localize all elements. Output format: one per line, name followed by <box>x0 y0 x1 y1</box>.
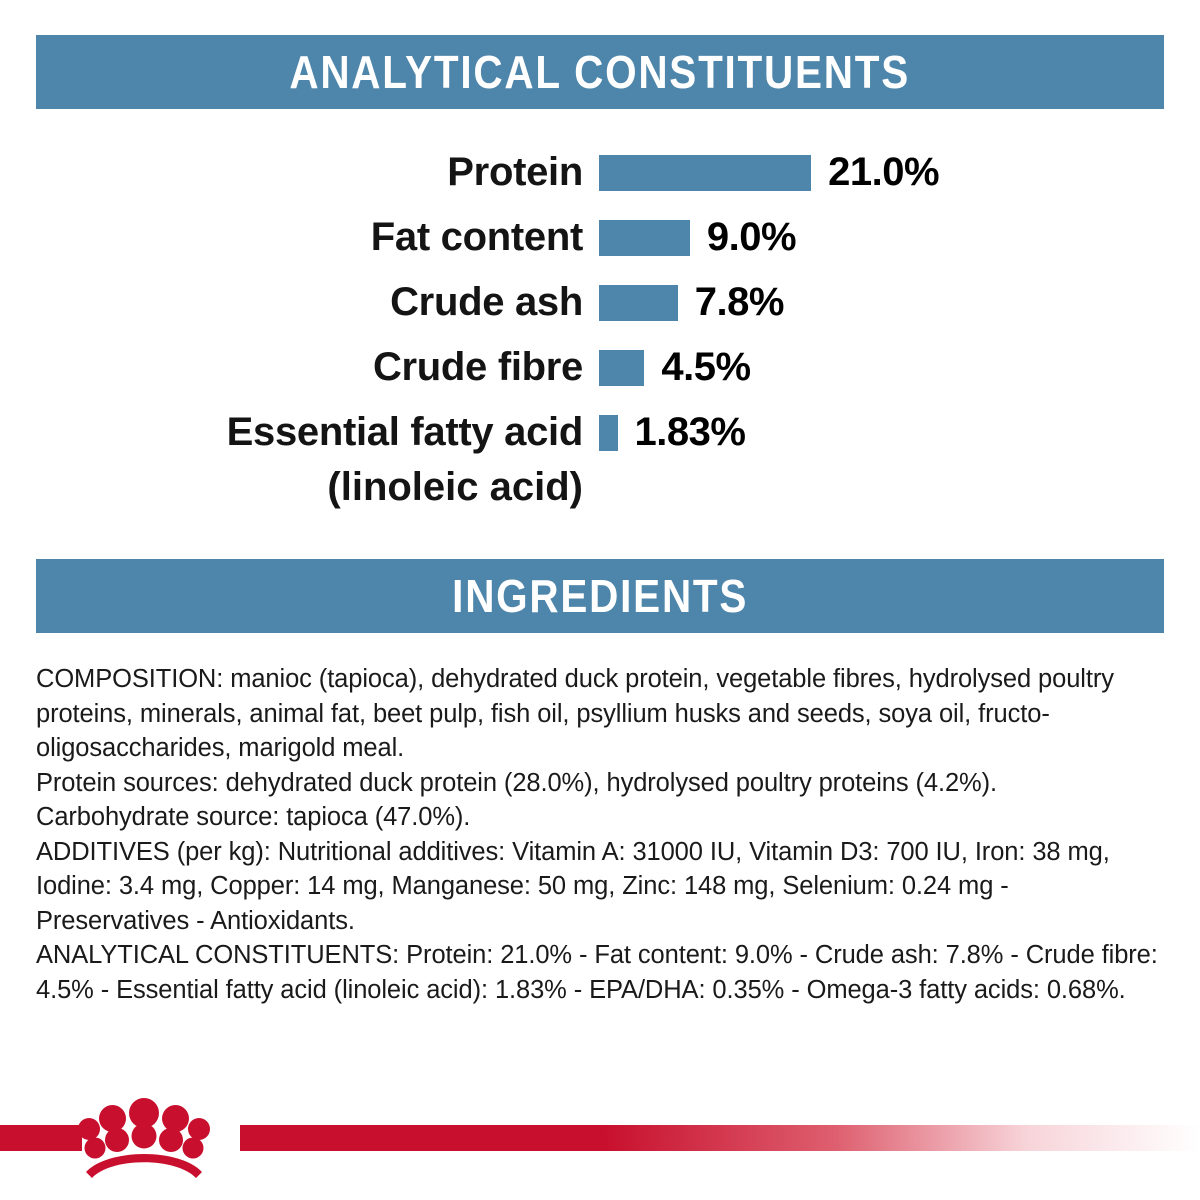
analytical-constituents-chart: Protein 21.0% Fat content 9.0% Crude ash… <box>0 140 1200 521</box>
protein-sources-text: Protein sources: dehydrated duck protein… <box>36 766 1166 801</box>
brand-band-left <box>0 1125 82 1151</box>
ingredients-body: COMPOSITION: manioc (tapioca), dehydrate… <box>36 662 1166 1007</box>
chart-row: Crude ash 7.8% <box>0 270 1200 335</box>
chart-row: Fat content 9.0% <box>0 205 1200 270</box>
chart-bar <box>599 415 618 451</box>
chart-bar-group: 21.0% <box>599 155 939 191</box>
carbohydrate-source-text: Carbohydrate source: tapioca (47.0%). <box>36 800 1166 835</box>
chart-bar-group: 9.0% <box>599 220 796 256</box>
chart-bar-group: 1.83% <box>599 415 745 451</box>
chart-row-value: 9.0% <box>707 215 796 260</box>
chart-bar <box>599 155 811 191</box>
ingredients-title: INGREDIENTS <box>452 573 748 619</box>
chart-row: Protein 21.0% <box>0 140 1200 205</box>
chart-row-value: 21.0% <box>828 150 939 195</box>
brand-band-right <box>240 1125 1200 1151</box>
chart-row-sublabel-line: (linoleic acid) <box>0 465 1200 521</box>
chart-row-label: Crude ash <box>0 280 583 325</box>
chart-bar-group: 7.8% <box>599 285 784 321</box>
product-info-panel: ANALYTICAL CONSTITUENTS Protein 21.0% Fa… <box>0 0 1200 1200</box>
chart-row-value: 4.5% <box>661 345 750 390</box>
chart-bar <box>599 350 644 386</box>
analytical-constituents-text: ANALYTICAL CONSTITUENTS: Protein: 21.0% … <box>36 938 1166 1007</box>
chart-row-sublabel: (linoleic acid) <box>0 465 583 510</box>
royal-canin-crown-icon <box>78 1096 210 1180</box>
analytical-constituents-title: ANALYTICAL CONSTITUENTS <box>290 49 911 95</box>
chart-row-label: Crude fibre <box>0 345 583 390</box>
chart-row-label: Protein <box>0 150 583 195</box>
chart-row-label: Essential fatty acid <box>0 410 583 455</box>
chart-row-value: 7.8% <box>695 280 784 325</box>
chart-row: Crude fibre 4.5% <box>0 335 1200 400</box>
chart-bar-group: 4.5% <box>599 350 751 386</box>
chart-bar <box>599 220 690 256</box>
additives-text: ADDITIVES (per kg): Nutritional additive… <box>36 835 1166 939</box>
chart-row-label: Fat content <box>0 215 583 260</box>
chart-bar <box>599 285 678 321</box>
chart-row-value: 1.83% <box>635 410 746 455</box>
chart-row: Essential fatty acid 1.83% <box>0 400 1200 465</box>
ingredients-header: INGREDIENTS <box>36 559 1164 633</box>
brand-footer <box>0 1090 1200 1200</box>
analytical-constituents-header: ANALYTICAL CONSTITUENTS <box>36 35 1164 109</box>
composition-text: COMPOSITION: manioc (tapioca), dehydrate… <box>36 662 1166 766</box>
